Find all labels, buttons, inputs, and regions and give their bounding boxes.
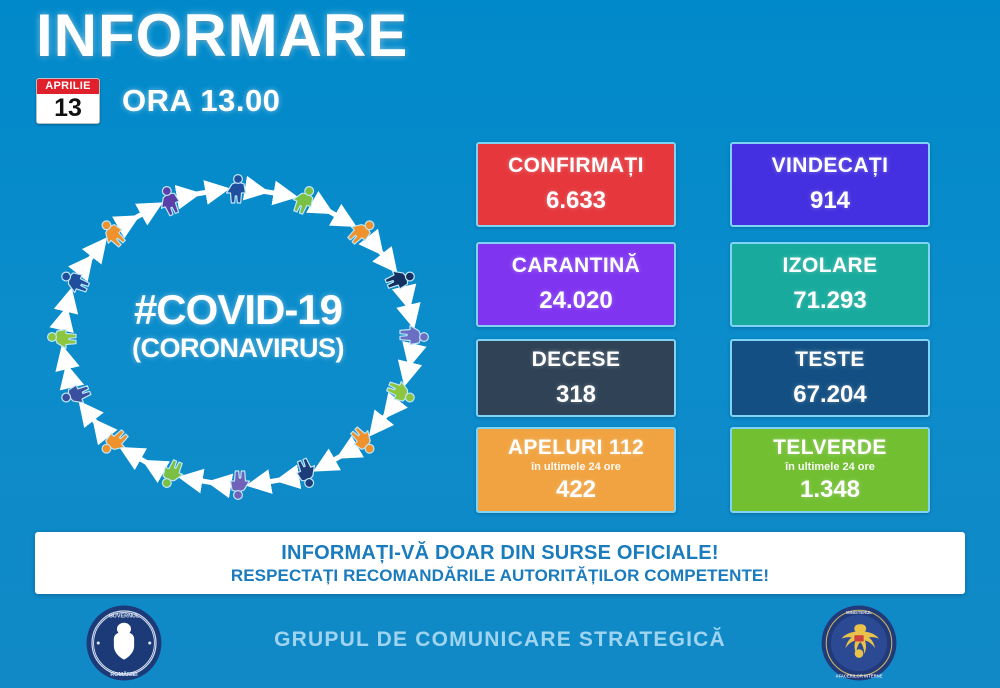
stat-card-carantina: CARANTINĂ 24.020 bbox=[476, 242, 676, 327]
stat-label: IZOLARE bbox=[783, 254, 878, 278]
banner-line-1: INFORMAȚI-VĂ DOAR DIN SURSE OFICIALE! bbox=[281, 541, 718, 565]
person-figure-icon bbox=[385, 378, 419, 406]
person-figure-icon bbox=[155, 184, 183, 218]
stat-label: VINDECAȚI bbox=[772, 154, 889, 178]
person-figure-icon bbox=[400, 326, 428, 345]
svg-text:AFACERILOR INTERNE: AFACERILOR INTERNE bbox=[836, 673, 883, 678]
svg-text:GUVERNUL: GUVERNUL bbox=[109, 613, 140, 619]
stat-label: CARANTINĂ bbox=[512, 254, 640, 278]
distancing-circle-svg bbox=[28, 160, 448, 515]
banner-line-2: RESPECTAȚI RECOMANDĂRILE AUTORITĂȚILOR C… bbox=[231, 565, 769, 586]
covid-distancing-graphic: #COVID-19 (CORONAVIRUS) bbox=[28, 160, 448, 515]
stat-value: 1.348 bbox=[800, 476, 860, 504]
ministerul-afacerilor-interne-seal-icon: MINISTERUL AFACERILOR INTERNE bbox=[820, 604, 898, 682]
stat-card-teste: TESTE 67.204 bbox=[730, 339, 930, 417]
stat-value: 71.293 bbox=[793, 287, 866, 315]
stat-label: TESTE bbox=[795, 348, 865, 372]
stat-card-decese: DECESE 318 bbox=[476, 339, 676, 417]
calendar-icon: APRILIE 13 bbox=[36, 78, 100, 124]
calendar-month: APRILIE bbox=[37, 79, 99, 94]
person-figure-icon bbox=[289, 183, 317, 217]
stat-label: APELURI 112 bbox=[508, 436, 644, 460]
stat-card-apeluri-112: APELURI 112 în ultimele 24 ore 422 bbox=[476, 427, 676, 513]
stat-value: 318 bbox=[556, 381, 596, 409]
person-figure-icon bbox=[383, 264, 417, 292]
person-figures bbox=[48, 175, 429, 500]
stat-card-telverde: TELVERDE în ultimele 24 ore 1.348 bbox=[730, 427, 930, 513]
stat-card-confirmati: CONFIRMAȚI 6.633 bbox=[476, 142, 676, 227]
footer: GUVERNUL ROMÂNIEI GRUPUL DE COMUNICARE S… bbox=[0, 600, 1000, 688]
statistics-grid: CONFIRMAȚI 6.633 VINDECAȚI 914 CARANTINĂ… bbox=[476, 142, 936, 514]
stat-label: DECESE bbox=[532, 348, 621, 372]
page-title: INFORMARE bbox=[36, 2, 408, 70]
stat-card-izolare: IZOLARE 71.293 bbox=[730, 242, 930, 327]
person-figure-icon bbox=[293, 456, 321, 490]
stat-card-vindecati: VINDECAȚI 914 bbox=[730, 142, 930, 227]
stat-value: 67.204 bbox=[793, 381, 866, 409]
stat-label: TELVERDE bbox=[773, 436, 887, 460]
stat-value: 6.633 bbox=[546, 187, 606, 215]
person-figure-icon bbox=[58, 268, 92, 296]
date-time-row: APRILIE 13 ORA 13.00 bbox=[36, 78, 280, 124]
stat-value: 24.020 bbox=[539, 287, 612, 315]
person-figure-icon bbox=[98, 426, 132, 460]
svg-text:MINISTERUL: MINISTERUL bbox=[846, 610, 872, 615]
svg-text:ROMÂNIEI: ROMÂNIEI bbox=[110, 671, 138, 678]
stat-sublabel: în ultimele 24 ore bbox=[785, 461, 875, 474]
calendar-day: 13 bbox=[37, 94, 99, 123]
stat-sublabel: în ultimele 24 ore bbox=[531, 461, 621, 474]
infographic-canvas: INFORMARE APRILIE 13 ORA 13.00 #COVID-19… bbox=[0, 0, 1000, 688]
person-figure-icon bbox=[59, 381, 93, 409]
hour-label: ORA 13.00 bbox=[122, 83, 280, 119]
stat-label: CONFIRMAȚI bbox=[508, 154, 644, 178]
person-figure-icon bbox=[227, 175, 246, 203]
person-figure-icon bbox=[231, 471, 250, 499]
stat-value: 422 bbox=[556, 476, 596, 504]
stat-value: 914 bbox=[810, 187, 850, 215]
person-figure-icon bbox=[158, 458, 186, 492]
person-figure-icon bbox=[48, 330, 76, 349]
official-sources-banner: INFORMAȚI-VĂ DOAR DIN SURSE OFICIALE! RE… bbox=[35, 532, 965, 594]
person-figure-icon bbox=[344, 214, 378, 248]
